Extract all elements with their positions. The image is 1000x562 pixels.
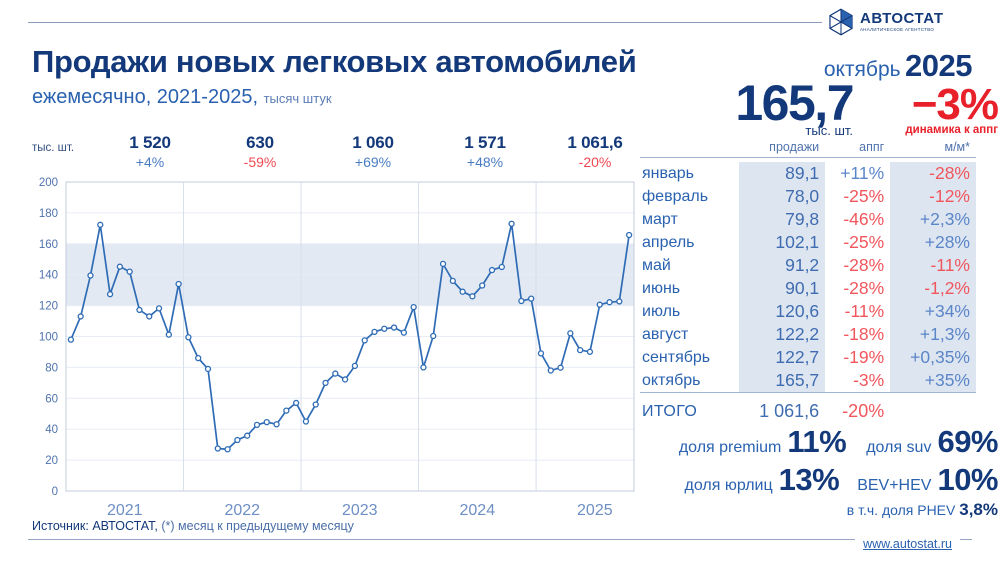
kpi-yoy-change: −3% динамика к аппг <box>860 84 998 136</box>
data-point-2025-02 <box>548 368 553 373</box>
table-row: сентябрь122,7-19%+0,35% <box>640 346 976 369</box>
cell-sales: 91,2 <box>739 254 825 277</box>
ytick-label-180: 180 <box>39 208 58 220</box>
cell-month: июнь <box>640 277 739 300</box>
data-point-2024-11 <box>519 298 524 303</box>
data-point-2024-06 <box>470 294 475 299</box>
kpi-total-sales: 165,7 тыс. шт. <box>678 80 853 138</box>
data-point-2023-11 <box>401 330 406 335</box>
data-point-2025-09 <box>617 299 622 304</box>
data-point-2024-12 <box>529 296 534 301</box>
annual-total-value: 1 571 <box>430 133 540 153</box>
table-row: октябрь165,7-3%+35% <box>640 369 976 393</box>
ytick-label-40: 40 <box>45 424 58 436</box>
table-header-row: продажи аппг м/м* <box>640 140 976 158</box>
data-point-2025-05 <box>578 348 583 353</box>
cell-yoy: -28% <box>825 254 890 277</box>
annual-total-2021: 1 520+4% <box>95 133 205 170</box>
cell-yoy: -19% <box>825 346 890 369</box>
subtitle-units: тысяч штук <box>264 91 332 106</box>
data-point-2022-07 <box>245 433 250 438</box>
data-point-2023-08 <box>372 329 377 334</box>
data-point-2025-06 <box>587 349 592 354</box>
cell-yoy: +11% <box>825 162 890 185</box>
share-bev-hev-label: BEV+HEV <box>857 477 931 495</box>
annual-total-2024: 1 571+48% <box>430 133 540 170</box>
data-point-2023-06 <box>352 363 357 368</box>
data-point-2021-02 <box>78 314 83 319</box>
data-point-2022-10 <box>274 422 279 427</box>
data-point-2022-09 <box>264 420 269 425</box>
table-row: январь89,1+11%-28% <box>640 162 976 185</box>
cell-month: январь <box>640 162 739 185</box>
data-point-2022-11 <box>284 408 289 413</box>
annual-total-2025: 1 061,6-20% <box>540 133 650 170</box>
data-point-2022-03 <box>206 366 211 371</box>
cell-yoy: -18% <box>825 323 890 346</box>
data-point-2025-01 <box>538 351 543 356</box>
xtick-label-2023: 2023 <box>342 502 378 516</box>
annual-total-change: +4% <box>95 154 205 170</box>
xtick-label-2024: 2024 <box>460 502 496 516</box>
cell-mom: -28% <box>890 162 976 185</box>
source-footnote: (*) месяц к предыдущему месяцу <box>161 519 354 533</box>
monthly-sales-line-chart: 0204060801001201401601802002021202220232… <box>24 176 640 516</box>
data-point-2021-03 <box>88 273 93 278</box>
kpi-delta-value: −3% <box>860 84 998 126</box>
data-point-2022-02 <box>196 356 201 361</box>
data-point-2025-03 <box>558 365 563 370</box>
ytick-label-60: 60 <box>45 393 58 405</box>
page-title: Продажи новых легковых автомобилей <box>32 44 636 80</box>
data-point-2024-07 <box>480 283 485 288</box>
data-point-2024-09 <box>499 264 504 269</box>
logo-brand-name: АВТОСТАТ <box>860 11 943 26</box>
share-premium: доля premium 11% <box>679 424 846 460</box>
data-point-2021-09 <box>147 314 152 319</box>
cell-mom: -12% <box>890 185 976 208</box>
share-phev-label: в т.ч. доля PHEV <box>847 502 956 518</box>
share-legal-entities: доля юрлиц 13% <box>685 462 840 498</box>
xtick-label-2022: 2022 <box>224 502 260 516</box>
data-point-2021-08 <box>137 307 142 312</box>
cell-mom: +1,3% <box>890 323 976 346</box>
data-point-2024-04 <box>450 278 455 283</box>
infographic-page: АВТОСТАТ АНАЛИТИЧЕСКОЕ АГЕНТСТВО Продажи… <box>0 0 1000 562</box>
data-point-2025-07 <box>597 302 602 307</box>
data-point-2025-04 <box>568 331 573 336</box>
table-row: июнь90,1-28%-1,2% <box>640 277 976 300</box>
cell-total-sales: 1 061,6 <box>739 397 825 423</box>
data-point-2023-02 <box>313 402 318 407</box>
source-name: АВТОСТАТ, <box>92 519 158 533</box>
annual-total-2022: 630-59% <box>205 133 315 170</box>
share-bev-hev: BEV+HEV 10% <box>857 462 998 498</box>
cell-sales: 78,0 <box>739 185 825 208</box>
cell-sales: 89,1 <box>739 162 825 185</box>
cell-sales: 120,6 <box>739 300 825 323</box>
data-point-2024-03 <box>441 261 446 266</box>
data-point-2023-09 <box>382 326 387 331</box>
annual-total-value: 1 060 <box>318 133 428 153</box>
table-row: март79,8-46%+2,3% <box>640 208 976 231</box>
annual-units-label: тыс. шт. <box>32 142 74 154</box>
data-point-2023-01 <box>303 419 308 424</box>
cell-yoy: -11% <box>825 300 890 323</box>
data-point-2023-07 <box>362 338 367 343</box>
data-point-2023-12 <box>411 305 416 310</box>
annual-total-change: +69% <box>318 154 428 170</box>
data-point-2025-08 <box>607 300 612 305</box>
data-point-2021-11 <box>166 332 171 337</box>
annual-total-value: 630 <box>205 133 315 153</box>
data-point-2022-08 <box>254 422 259 427</box>
data-point-2021-10 <box>157 306 162 311</box>
cell-month: август <box>640 323 739 346</box>
ytick-label-120: 120 <box>39 301 58 313</box>
data-point-2021-04 <box>98 222 103 227</box>
table-total-row: ИТОГО1 061,6-20% <box>640 397 976 423</box>
table-row: август122,2-18%+1,3% <box>640 323 976 346</box>
source-prefix: Источник: <box>32 519 89 533</box>
data-point-2022-01 <box>186 335 191 340</box>
data-point-2025-10 <box>627 232 632 237</box>
share-suv-label: доля suv <box>866 439 931 457</box>
data-point-2022-12 <box>294 400 299 405</box>
cell-total-mom <box>890 397 976 423</box>
cell-month: апрель <box>640 231 739 254</box>
data-point-2024-02 <box>431 334 436 339</box>
data-point-2022-06 <box>235 438 240 443</box>
cell-sales: 102,1 <box>739 231 825 254</box>
data-point-2021-07 <box>127 269 132 274</box>
bottom-divider <box>28 539 972 540</box>
cell-yoy: -3% <box>825 369 890 393</box>
cell-sales: 165,7 <box>739 369 825 393</box>
annual-total-value: 1 520 <box>95 133 205 153</box>
annual-total-change: +48% <box>430 154 540 170</box>
share-legal-value: 13% <box>779 462 840 498</box>
annual-total-change: -20% <box>540 154 650 170</box>
cell-total-yoy: -20% <box>825 397 890 423</box>
page-subtitle: ежемесячно, 2021-2025, тысяч штук <box>32 86 332 109</box>
share-metrics: доля premium 11% доля suv 69% доля юрлиц… <box>620 424 998 520</box>
th-yoy: аппг <box>825 140 890 158</box>
share-suv-value: 69% <box>937 424 998 460</box>
share-phev-value: 3,8% <box>959 500 998 519</box>
table-row: апрель102,1-25%+28% <box>640 231 976 254</box>
data-point-2021-01 <box>68 337 73 342</box>
data-point-2022-04 <box>215 446 220 451</box>
data-point-2024-05 <box>460 289 465 294</box>
period-year: 2025 <box>905 48 972 83</box>
table-row: май91,2-28%-11% <box>640 254 976 277</box>
cell-month: июль <box>640 300 739 323</box>
th-month <box>640 140 739 158</box>
cell-mom: +34% <box>890 300 976 323</box>
ytick-label-80: 80 <box>45 362 58 374</box>
ytick-label-0: 0 <box>52 486 58 498</box>
cell-mom: +0,35% <box>890 346 976 369</box>
ytick-label-100: 100 <box>39 332 58 344</box>
share-legal-label: доля юрлиц <box>685 477 773 495</box>
data-point-2022-05 <box>225 447 230 452</box>
data-point-2024-10 <box>509 221 514 226</box>
cell-yoy: -46% <box>825 208 890 231</box>
xtick-label-2025: 2025 <box>577 502 613 516</box>
data-point-2023-03 <box>323 380 328 385</box>
th-mom: м/м* <box>890 140 976 158</box>
data-point-2024-01 <box>421 365 426 370</box>
cell-sales: 90,1 <box>739 277 825 300</box>
data-point-2021-05 <box>108 292 113 297</box>
website-link[interactable]: www.autostat.ru <box>855 537 960 551</box>
cell-sales: 122,2 <box>739 323 825 346</box>
ytick-label-20: 20 <box>45 455 58 467</box>
cell-month: сентябрь <box>640 346 739 369</box>
kpi-value: 165,7 <box>678 80 853 126</box>
cell-mom: -11% <box>890 254 976 277</box>
cell-yoy: -25% <box>825 185 890 208</box>
annual-total-2023: 1 060+69% <box>318 133 428 170</box>
cell-mom: -1,2% <box>890 277 976 300</box>
share-row-1: доля premium 11% доля suv 69% <box>620 424 998 460</box>
xtick-label-2021: 2021 <box>107 502 143 516</box>
monthly-table: продажи аппг м/м* январь89,1+11%-28%февр… <box>640 140 976 423</box>
cell-mom: +2,3% <box>890 208 976 231</box>
ytick-label-200: 200 <box>39 177 58 189</box>
cell-month: февраль <box>640 185 739 208</box>
subtitle-main: ежемесячно, 2021-2025, <box>32 86 258 108</box>
cell-total-label: ИТОГО <box>640 397 739 423</box>
kpi-delta-caption: динамика к аппг <box>860 124 998 136</box>
data-point-2021-06 <box>117 264 122 269</box>
share-suv: доля suv 69% <box>866 424 998 460</box>
cell-yoy: -28% <box>825 277 890 300</box>
table-row: июль120,6-11%+34% <box>640 300 976 323</box>
cell-mom: +35% <box>890 369 976 393</box>
share-row-2: доля юрлиц 13% BEV+HEV 10% <box>620 462 998 498</box>
annual-total-value: 1 061,6 <box>540 133 650 153</box>
cell-mom: +28% <box>890 231 976 254</box>
data-point-2023-04 <box>333 371 338 376</box>
data-point-2023-05 <box>343 377 348 382</box>
ytick-label-140: 140 <box>39 270 58 282</box>
source-note: Источник: АВТОСТАТ, (*) месяц к предыдущ… <box>32 519 354 533</box>
annual-total-change: -59% <box>205 154 315 170</box>
cell-month: май <box>640 254 739 277</box>
share-bev-hev-value: 10% <box>937 462 998 498</box>
data-point-2024-08 <box>490 268 495 273</box>
share-premium-value: 11% <box>787 424 846 460</box>
cell-sales: 122,7 <box>739 346 825 369</box>
table-row: февраль78,0-25%-12% <box>640 185 976 208</box>
th-sales: продажи <box>739 140 825 158</box>
cell-month: март <box>640 208 739 231</box>
cell-month: октябрь <box>640 369 739 393</box>
ytick-label-160: 160 <box>39 239 58 251</box>
autostat-logo: АВТОСТАТ АНАЛИТИЧЕСКОЕ АГЕНТСТВО <box>822 3 976 41</box>
data-point-2023-10 <box>392 325 397 330</box>
logo-tagline: АНАЛИТИЧЕСКОЕ АГЕНТСТВО <box>860 28 943 32</box>
share-phev: в т.ч. доля PHEV 3,8% <box>620 500 998 520</box>
hexagon-spokes-icon <box>826 7 856 37</box>
cell-yoy: -25% <box>825 231 890 254</box>
share-premium-label: доля premium <box>679 439 782 457</box>
cell-sales: 79,8 <box>739 208 825 231</box>
data-point-2021-12 <box>176 281 181 286</box>
